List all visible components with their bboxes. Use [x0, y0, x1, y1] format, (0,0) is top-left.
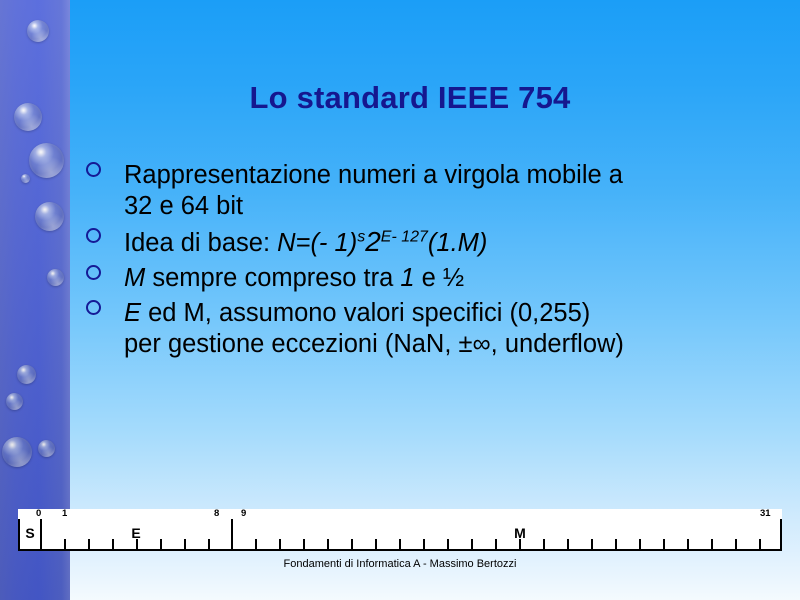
ruler-minor-tick: [471, 539, 473, 549]
ruler-minor-tick: [351, 539, 353, 549]
bubble-decoration: [14, 103, 42, 131]
ruler-minor-tick: [423, 539, 425, 549]
ruler-minor-tick: [495, 539, 497, 549]
formula-exponent-e-127: E- 127: [381, 229, 428, 246]
bit-field-label-exponent: E: [131, 525, 140, 541]
bubble-decoration: [35, 202, 64, 231]
ruler-minor-tick: [64, 539, 66, 549]
page-title: Lo standard IEEE 754: [90, 80, 730, 116]
ruler-minor-tick: [639, 539, 641, 549]
ruler-minor-tick: [399, 539, 401, 549]
ruler-minor-tick: [375, 539, 377, 549]
bullet-text-line: per gestione eccezioni (NaN, ±∞, underfl…: [124, 329, 786, 360]
list-item: M sempre compreso tra 1 e ½: [86, 263, 786, 294]
ruler-minor-tick: [591, 539, 593, 549]
bullet-text-line: Idea di base: N=(- 1)s2E- 127(1.M): [124, 226, 786, 259]
bubble-decoration: [2, 437, 32, 467]
list-item: Idea di base: N=(- 1)s2E- 127(1.M): [86, 226, 786, 259]
ruler-minor-tick: [543, 539, 545, 549]
formula-sign-term: =(- 1): [296, 229, 358, 257]
bullet-circle-icon: [86, 265, 101, 280]
ruler-minor-tick: [184, 539, 186, 549]
ruler-minor-tick: [447, 539, 449, 549]
bullet-circle-icon: [86, 228, 101, 243]
ruler-minor-tick: [88, 539, 90, 549]
bit-label-1: 1: [62, 508, 67, 519]
bit-field-label-mantissa: M: [514, 525, 526, 541]
bullet-text-line: E ed M, assumono valori specifici (0,255…: [124, 298, 786, 329]
ruler-minor-tick: [327, 539, 329, 549]
bullet-text-tail: e ½: [415, 264, 465, 292]
ruler-minor-tick: [255, 539, 257, 549]
ruler-minor-tick: [711, 539, 713, 549]
ruler-minor-tick: [759, 539, 761, 549]
slide-footer: Fondamenti di Informatica A - Massimo Be…: [0, 558, 800, 570]
ruler-major-tick: [40, 519, 42, 549]
bullet-text-line: 32 e 64 bit: [124, 191, 786, 222]
bit-field-label-sign: S: [25, 525, 34, 541]
ruler-minor-tick: [303, 539, 305, 549]
bit-label-31: 31: [760, 508, 771, 519]
bubble-decoration: [29, 143, 64, 178]
bit-field-ruler: S E M: [18, 519, 782, 551]
bullet-list: Rappresentazione numeri a virgola mobile…: [86, 160, 786, 364]
slide-canvas: Lo standard IEEE 754 Rappresentazione nu…: [0, 0, 800, 600]
bit-label-8: 8: [214, 508, 219, 519]
bullet-text-rest: ed M, assumono valori specifici (0,255): [141, 299, 590, 327]
bullet-text-line: Rappresentazione numeri a virgola mobile…: [124, 160, 786, 191]
ruler-minor-tick: [615, 539, 617, 549]
bit-label-0: 0: [36, 508, 41, 519]
bullet-text-line: M sempre compreso tra 1 e ½: [124, 263, 786, 294]
ruler-minor-tick: [567, 539, 569, 549]
bubble-decoration: [47, 269, 64, 286]
bullet-text-middle: sempre compreso tra: [145, 264, 400, 292]
ruler-minor-tick: [160, 539, 162, 549]
formula-base-2: 2: [365, 226, 381, 257]
ruler-minor-tick: [208, 539, 210, 549]
ruler-minor-tick: [663, 539, 665, 549]
formula-variable-n: N: [277, 229, 295, 257]
bubble-decoration: [27, 20, 49, 42]
variable-e: E: [124, 299, 141, 327]
ruler-major-tick: [231, 519, 233, 549]
bullet-circle-icon: [86, 300, 101, 315]
ruler-minor-tick: [112, 539, 114, 549]
bubble-decoration: [17, 365, 36, 384]
value-one: 1: [400, 264, 414, 292]
list-item: Rappresentazione numeri a virgola mobile…: [86, 160, 786, 222]
formula-exponent-s: s: [357, 229, 365, 246]
ruler-minor-tick: [735, 539, 737, 549]
bullet-circle-icon: [86, 162, 101, 177]
ruler-minor-tick: [279, 539, 281, 549]
bubble-decoration: [21, 174, 30, 183]
formula-mantissa: (1.M): [428, 229, 488, 257]
bit-label-9: 9: [241, 508, 246, 519]
variable-m: M: [124, 264, 145, 292]
formula-prefix: Idea di base:: [124, 229, 277, 257]
ruler-minor-tick: [687, 539, 689, 549]
bubble-decoration: [6, 393, 23, 410]
bubble-decoration: [38, 440, 55, 457]
list-item: E ed M, assumono valori specifici (0,255…: [86, 298, 786, 360]
